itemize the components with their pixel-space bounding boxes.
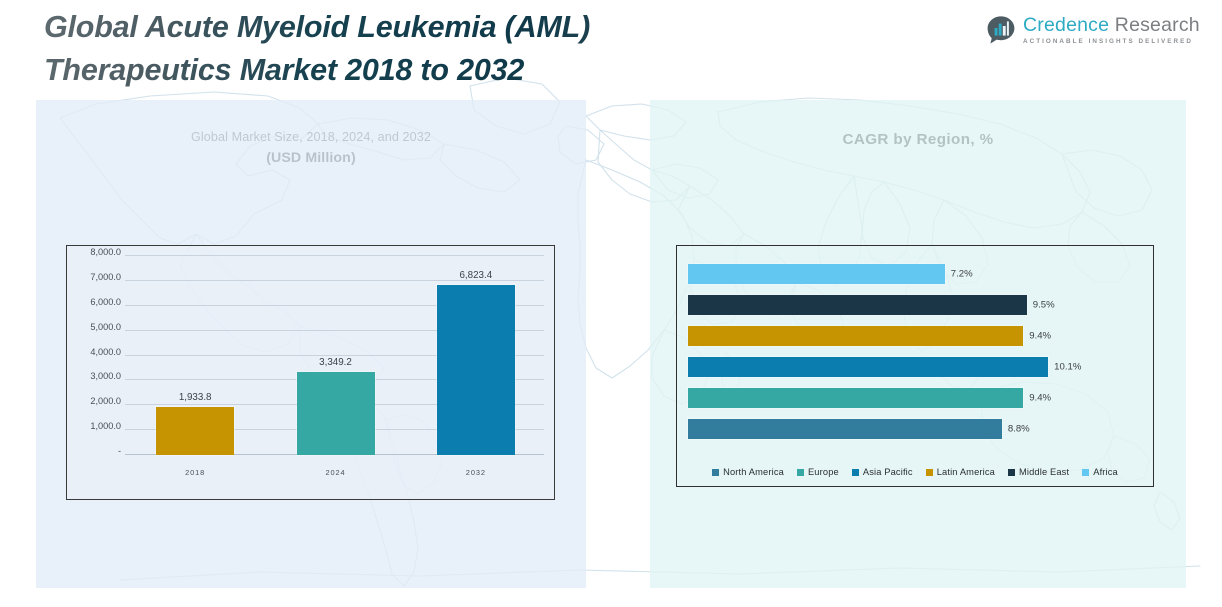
horizontal-bar-value-label: 9.5% xyxy=(1033,300,1055,311)
legend-swatch-icon xyxy=(926,469,933,476)
legend-label: Africa xyxy=(1093,467,1118,477)
brand-logo[interactable]: Credence Research Actionable Insights De… xyxy=(986,14,1200,45)
horizontal-bar-value-label: 7.2% xyxy=(951,269,973,280)
horizontal-bar-value-label: 10.1% xyxy=(1054,362,1081,373)
y-axis-tick-label: 8,000.0 xyxy=(73,247,121,257)
logo-text: Credence Research Actionable Insights De… xyxy=(1023,14,1200,45)
y-axis-tick-label: 1,000.0 xyxy=(73,421,121,431)
infographic-root: Global Acute Myeloid Leukemia (AML) Ther… xyxy=(0,0,1222,607)
bar-row: 7.2% xyxy=(688,264,1141,284)
y-axis-tick-label: - xyxy=(73,446,121,456)
legend-swatch-icon xyxy=(797,469,804,476)
legend-label: Middle East xyxy=(1019,467,1069,477)
legend-item[interactable]: Asia Pacific xyxy=(852,467,913,477)
bar-row: 10.1% xyxy=(688,357,1141,377)
legend-swatch-icon xyxy=(1008,469,1015,476)
horizontal-bar[interactable] xyxy=(688,357,1048,377)
y-axis-tick-label: 6,000.0 xyxy=(73,297,121,307)
logo-name: Credence Research xyxy=(1023,14,1200,37)
column-bar[interactable] xyxy=(297,372,375,455)
logo-name-part2: Research xyxy=(1115,14,1200,36)
legend-item[interactable]: North America xyxy=(712,467,784,477)
legend-item[interactable]: Europe xyxy=(797,467,839,477)
legend-label: Asia Pacific xyxy=(863,467,913,477)
bar-row: 9.4% xyxy=(688,388,1141,408)
legend-label: North America xyxy=(723,467,784,477)
bar-row: 9.4% xyxy=(688,326,1141,346)
column-bar-value-label: 1,933.8 xyxy=(179,392,212,403)
legend-swatch-icon xyxy=(852,469,859,476)
horizontal-bar-value-label: 9.4% xyxy=(1029,393,1051,404)
horizontal-bar-value-label: 9.4% xyxy=(1029,331,1051,342)
logo-tagline: Actionable Insights Delivered xyxy=(1023,38,1200,45)
legend-item[interactable]: Latin America xyxy=(926,467,995,477)
column-bar-value-label: 3,349.2 xyxy=(319,357,352,368)
legend-swatch-icon xyxy=(712,469,719,476)
bar-chart-plot-area: 7.2%9.5%9.4%10.1%9.4%8.8% xyxy=(677,246,1153,486)
legend-item[interactable]: Middle East xyxy=(1008,467,1069,477)
x-axis-category-label: 2032 xyxy=(466,468,486,477)
column-bar[interactable] xyxy=(437,285,515,455)
legend-label: Europe xyxy=(808,467,839,477)
y-axis-tick-label: 5,000.0 xyxy=(73,322,121,332)
horizontal-bar[interactable] xyxy=(688,264,945,284)
horizontal-bar[interactable] xyxy=(688,419,1002,439)
bar-row: 8.8% xyxy=(688,419,1141,439)
y-axis-tick-label: 2,000.0 xyxy=(73,396,121,406)
bar-chart-legend: North AmericaEuropeAsia PacificLatin Ame… xyxy=(677,467,1153,477)
column-chart-plot-area: -1,000.02,000.03,000.04,000.05,000.06,00… xyxy=(67,246,554,499)
legend-swatch-icon xyxy=(1082,469,1089,476)
credence-bar-chart-speech-bubble-icon xyxy=(986,15,1016,45)
legend-item[interactable]: Africa xyxy=(1082,467,1118,477)
x-axis-category-label: 2024 xyxy=(325,468,345,477)
y-axis-tick-label: 3,000.0 xyxy=(73,371,121,381)
column-bar-value-label: 6,823.4 xyxy=(459,270,492,281)
y-axis-tick-label: 7,000.0 xyxy=(73,272,121,282)
bar-row: 9.5% xyxy=(688,295,1141,315)
horizontal-bar[interactable] xyxy=(688,326,1023,346)
legend-label: Latin America xyxy=(937,467,995,477)
horizontal-bar[interactable] xyxy=(688,295,1027,315)
column-bar[interactable] xyxy=(156,407,234,455)
global-market-size-chart: -1,000.02,000.03,000.04,000.05,000.06,00… xyxy=(66,245,555,500)
x-axis-category-label: 2018 xyxy=(185,468,205,477)
logo-name-part1: Credence xyxy=(1023,14,1109,36)
horizontal-bar-value-label: 8.8% xyxy=(1008,424,1030,435)
gridline xyxy=(125,255,544,256)
y-axis-tick-label: 4,000.0 xyxy=(73,347,121,357)
page-title: Global Acute Myeloid Leukemia (AML) Ther… xyxy=(44,6,844,93)
header: Global Acute Myeloid Leukemia (AML) Ther… xyxy=(0,0,1222,100)
cagr-by-region-chart: 7.2%9.5%9.4%10.1%9.4%8.8% North AmericaE… xyxy=(676,245,1154,487)
horizontal-bar[interactable] xyxy=(688,388,1023,408)
